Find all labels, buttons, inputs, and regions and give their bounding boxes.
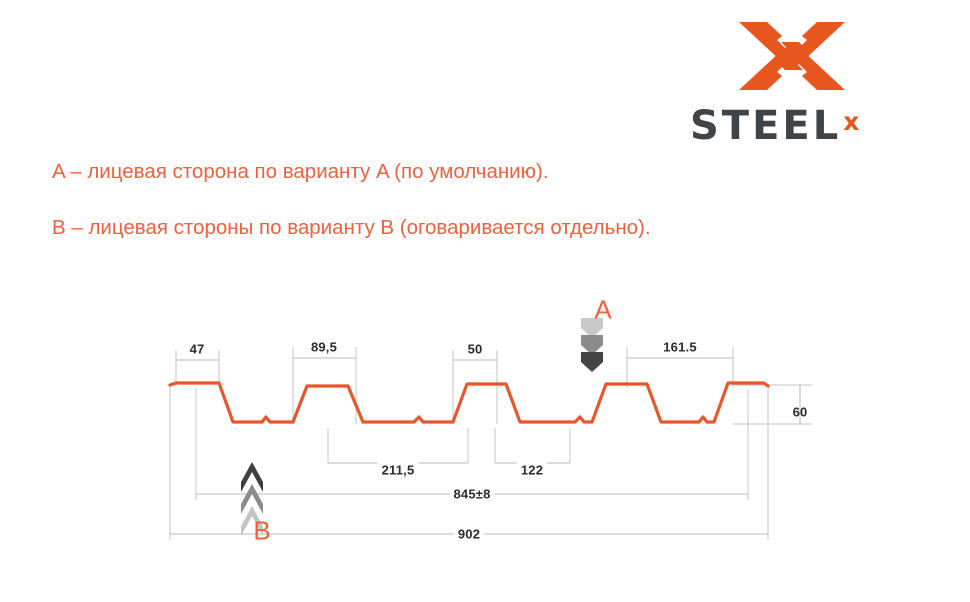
marker-b-label: B [253, 516, 270, 547]
dim-845-label: 845±8 [449, 487, 494, 502]
dim-50-label: 50 [464, 342, 487, 357]
marker-a-label: A [594, 295, 611, 326]
dim-122-label: 122 [517, 463, 547, 478]
profile-drawing-svg [0, 0, 970, 597]
corrugated-profile-line [170, 383, 768, 422]
marker-a-chevron-icon [581, 318, 603, 372]
dim-47-label: 47 [186, 342, 209, 357]
dim-89-5-label: 89,5 [307, 340, 341, 355]
dim-902-label: 902 [454, 527, 484, 542]
dim-211-5-label: 211,5 [378, 463, 419, 478]
technical-drawing-page: STEEL x A – лицевая сторона по варианту … [0, 0, 970, 597]
profile-drawing: 47 89,5 50 161.5 211,5 122 845±8 902 60 … [0, 0, 970, 597]
dim-161-5-label: 161.5 [659, 340, 701, 355]
dim-60-label: 60 [789, 405, 812, 420]
extension-lines [170, 347, 812, 540]
